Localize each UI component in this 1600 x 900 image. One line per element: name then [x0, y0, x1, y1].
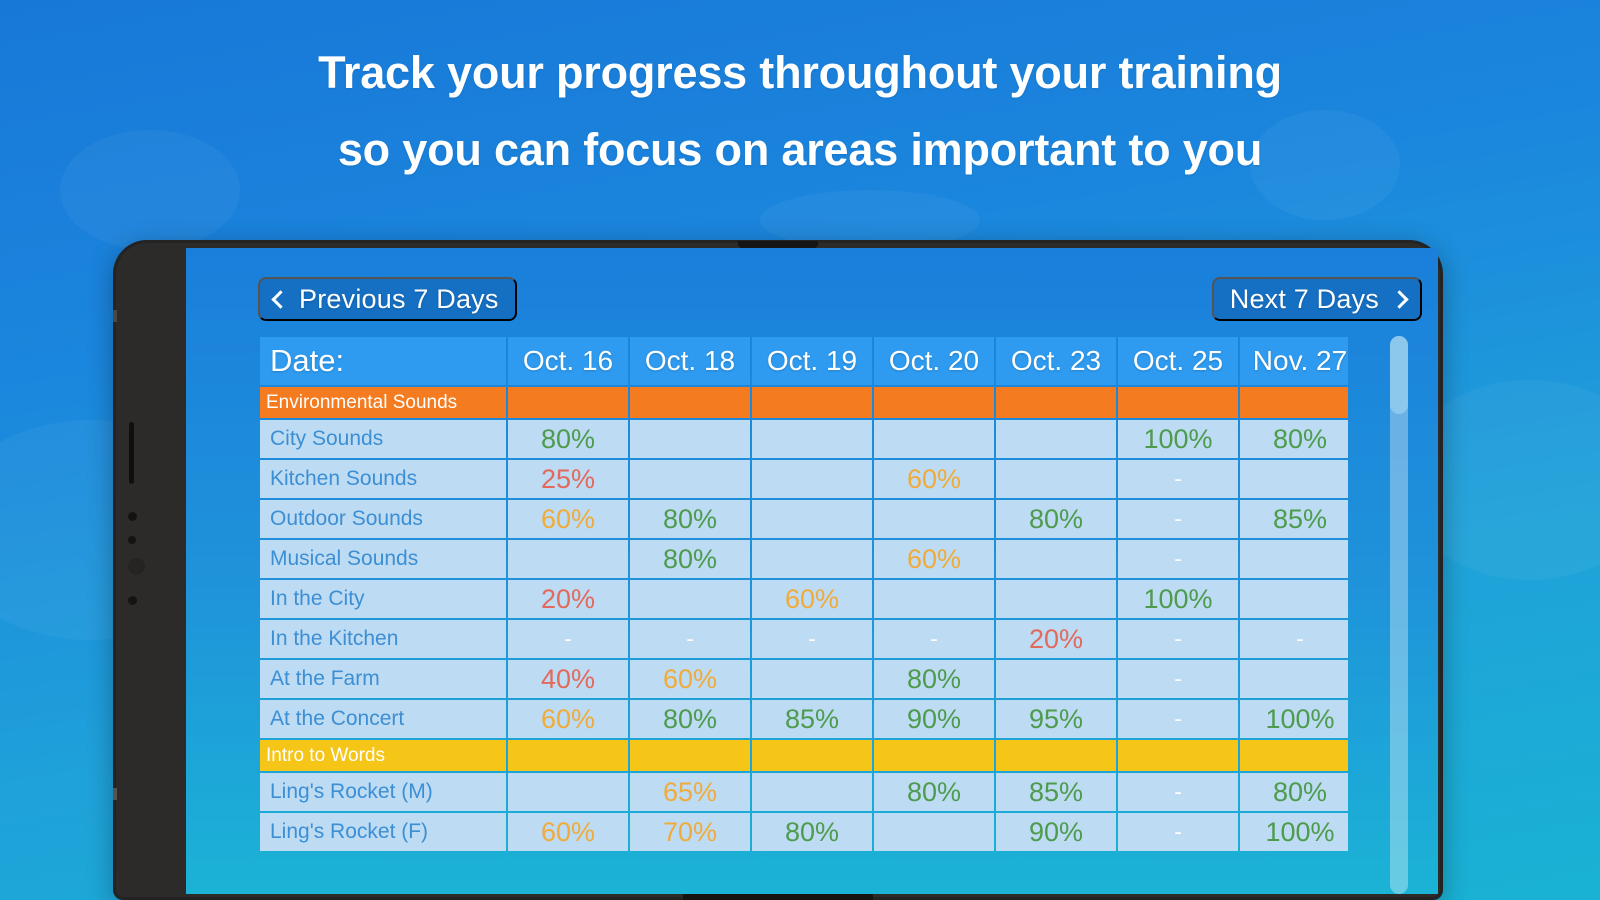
- marketing-headline: Track your progress throughout your trai…: [0, 34, 1600, 189]
- table-row: Outdoor Sounds60%80%80%-85%: [260, 500, 1348, 538]
- score-cell: 100%: [1240, 700, 1348, 738]
- score-cell: 100%: [1118, 580, 1238, 618]
- score-cell: [752, 500, 872, 538]
- score-cell: 70%: [630, 813, 750, 851]
- score-cell: [996, 540, 1116, 578]
- section-spacer-cell: [752, 387, 872, 418]
- row-label: In the City: [260, 580, 506, 618]
- column-header-day: Oct. 18: [630, 337, 750, 385]
- row-label: Ling's Rocket (M): [260, 773, 506, 811]
- volume-button[interactable]: [129, 422, 134, 484]
- score-cell: 80%: [874, 773, 994, 811]
- score-cell: -: [508, 620, 628, 658]
- column-header-day: Oct. 25: [1118, 337, 1238, 385]
- phone-speaker-grille: [738, 241, 818, 248]
- section-spacer-cell: [1118, 740, 1238, 771]
- score-cell: -: [630, 620, 750, 658]
- phone-device-mockup: Previous 7 Days Next 7 Days Date: Oct. 1…: [113, 240, 1443, 900]
- score-cell: 85%: [996, 773, 1116, 811]
- row-label: Ling's Rocket (F): [260, 813, 506, 851]
- row-label: City Sounds: [260, 420, 506, 458]
- score-cell: [874, 813, 994, 851]
- table-section-row: Environmental Sounds: [260, 387, 1348, 418]
- score-cell: [752, 540, 872, 578]
- progress-table-container[interactable]: Date: Oct. 16Oct. 18Oct. 19Oct. 20Oct. 2…: [258, 335, 1348, 894]
- score-cell: -: [1118, 773, 1238, 811]
- chevron-left-icon: [271, 290, 289, 308]
- score-cell: 80%: [508, 420, 628, 458]
- vertical-scrollbar-track[interactable]: [1390, 336, 1408, 894]
- score-cell: 80%: [874, 660, 994, 698]
- score-cell: 80%: [1240, 773, 1348, 811]
- score-cell: [508, 773, 628, 811]
- flash-led-icon: [128, 596, 137, 605]
- score-cell: [752, 420, 872, 458]
- score-cell: 20%: [508, 580, 628, 618]
- row-label: At the Farm: [260, 660, 506, 698]
- section-spacer-cell: [630, 740, 750, 771]
- score-cell: 85%: [1240, 500, 1348, 538]
- chevron-right-icon: [1390, 290, 1408, 308]
- column-header-day: Oct. 23: [996, 337, 1116, 385]
- score-cell: 60%: [874, 540, 994, 578]
- score-cell: [752, 460, 872, 498]
- table-body: Environmental SoundsCity Sounds80%100%80…: [260, 387, 1348, 851]
- next-7-days-button[interactable]: Next 7 Days: [1212, 277, 1422, 321]
- column-header-day: Oct. 16: [508, 337, 628, 385]
- score-cell: [752, 660, 872, 698]
- section-spacer-cell: [508, 740, 628, 771]
- score-cell: 80%: [1240, 420, 1348, 458]
- score-cell: -: [1118, 460, 1238, 498]
- section-spacer-cell: [1240, 387, 1348, 418]
- score-cell: -: [752, 620, 872, 658]
- section-spacer-cell: [874, 387, 994, 418]
- column-header-day: Oct. 19: [752, 337, 872, 385]
- score-cell: 65%: [630, 773, 750, 811]
- score-cell: [1240, 460, 1348, 498]
- score-cell: 80%: [996, 500, 1116, 538]
- score-cell: -: [1118, 813, 1238, 851]
- app-screen: Previous 7 Days Next 7 Days Date: Oct. 1…: [186, 248, 1438, 894]
- score-cell: 60%: [508, 813, 628, 851]
- score-cell: -: [1118, 620, 1238, 658]
- score-cell: 95%: [996, 700, 1116, 738]
- score-cell: -: [874, 620, 994, 658]
- score-cell: 40%: [508, 660, 628, 698]
- score-cell: 100%: [1240, 813, 1348, 851]
- score-cell: [630, 580, 750, 618]
- score-cell: 85%: [752, 700, 872, 738]
- section-spacer-cell: [996, 740, 1116, 771]
- score-cell: [996, 460, 1116, 498]
- score-cell: 90%: [996, 813, 1116, 851]
- app-screenshot: Track your progress throughout your trai…: [0, 0, 1600, 900]
- section-spacer-cell: [630, 387, 750, 418]
- column-header-day: Oct. 20: [874, 337, 994, 385]
- table-row: Ling's Rocket (F)60%70%80%90%-100%: [260, 813, 1348, 851]
- score-cell: -: [1118, 540, 1238, 578]
- section-spacer-cell: [874, 740, 994, 771]
- score-cell: [996, 420, 1116, 458]
- table-row: At the Farm40%60%80%-: [260, 660, 1348, 698]
- table-row: Musical Sounds80%60%-: [260, 540, 1348, 578]
- score-cell: -: [1118, 660, 1238, 698]
- score-cell: 20%: [996, 620, 1116, 658]
- section-label: Environmental Sounds: [260, 387, 506, 418]
- score-cell: -: [1118, 500, 1238, 538]
- score-cell: [630, 420, 750, 458]
- score-cell: 60%: [752, 580, 872, 618]
- fingerprint-sensor-icon[interactable]: [128, 558, 145, 575]
- score-cell: 60%: [508, 700, 628, 738]
- camera-lens-icon: [128, 512, 137, 521]
- score-cell: 80%: [630, 540, 750, 578]
- phone-antenna-band: [113, 310, 117, 322]
- score-cell: [752, 773, 872, 811]
- column-header-date: Date:: [260, 337, 506, 385]
- table-row: At the Concert60%80%85%90%95%-100%: [260, 700, 1348, 738]
- table-row: In the City20%60%100%: [260, 580, 1348, 618]
- previous-7-days-label: Previous 7 Days: [299, 284, 499, 315]
- score-cell: 80%: [630, 500, 750, 538]
- score-cell: -: [1240, 620, 1348, 658]
- score-cell: [874, 500, 994, 538]
- section-label: Intro to Words: [260, 740, 506, 771]
- row-label: In the Kitchen: [260, 620, 506, 658]
- section-spacer-cell: [1240, 740, 1348, 771]
- score-cell: 90%: [874, 700, 994, 738]
- score-cell: 60%: [630, 660, 750, 698]
- section-spacer-cell: [508, 387, 628, 418]
- section-spacer-cell: [996, 387, 1116, 418]
- table-header: Date: Oct. 16Oct. 18Oct. 19Oct. 20Oct. 2…: [260, 337, 1348, 385]
- score-cell: [1240, 660, 1348, 698]
- score-cell: [1240, 540, 1348, 578]
- next-7-days-label: Next 7 Days: [1230, 284, 1379, 315]
- score-cell: 25%: [508, 460, 628, 498]
- score-cell: 80%: [752, 813, 872, 851]
- score-cell: [874, 580, 994, 618]
- score-cell: 60%: [508, 500, 628, 538]
- section-spacer-cell: [1118, 387, 1238, 418]
- score-cell: 100%: [1118, 420, 1238, 458]
- score-cell: 80%: [630, 700, 750, 738]
- table-row: Ling's Rocket (M)65%80%85%-80%: [260, 773, 1348, 811]
- phone-antenna-band: [113, 788, 117, 800]
- row-label: Musical Sounds: [260, 540, 506, 578]
- score-cell: [630, 460, 750, 498]
- score-cell: [1240, 580, 1348, 618]
- table-header-row: Date: Oct. 16Oct. 18Oct. 19Oct. 20Oct. 2…: [260, 337, 1348, 385]
- progress-table: Date: Oct. 16Oct. 18Oct. 19Oct. 20Oct. 2…: [258, 335, 1348, 853]
- vertical-scrollbar-thumb[interactable]: [1390, 336, 1408, 414]
- table-section-row: Intro to Words: [260, 740, 1348, 771]
- column-header-day: Nov. 27: [1240, 337, 1348, 385]
- score-cell: [996, 580, 1116, 618]
- camera-lens-icon: [128, 536, 136, 544]
- previous-7-days-button[interactable]: Previous 7 Days: [258, 277, 517, 321]
- row-label: At the Concert: [260, 700, 506, 738]
- row-label: Outdoor Sounds: [260, 500, 506, 538]
- table-row: Kitchen Sounds25%60%-: [260, 460, 1348, 498]
- score-cell: [996, 660, 1116, 698]
- score-cell: -: [1118, 700, 1238, 738]
- table-row: City Sounds80%100%80%: [260, 420, 1348, 458]
- section-spacer-cell: [752, 740, 872, 771]
- table-row: In the Kitchen----20%--: [260, 620, 1348, 658]
- score-cell: [874, 420, 994, 458]
- score-cell: [508, 540, 628, 578]
- score-cell: 60%: [874, 460, 994, 498]
- row-label: Kitchen Sounds: [260, 460, 506, 498]
